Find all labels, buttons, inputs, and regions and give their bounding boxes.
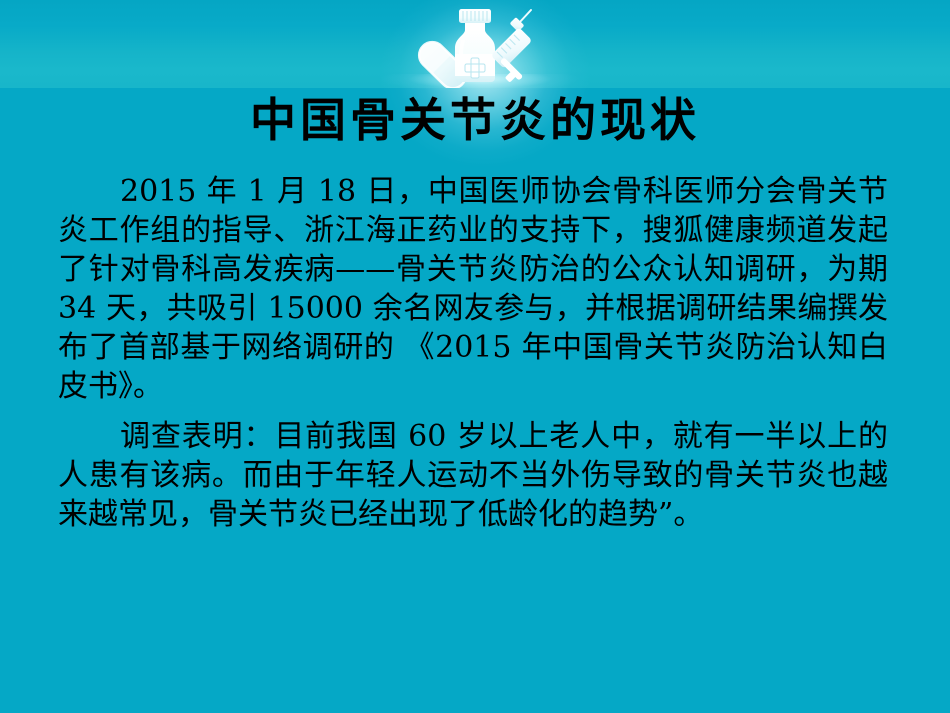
syringe-shape bbox=[491, 10, 533, 83]
medicine-icon bbox=[403, 4, 563, 88]
medicine-bottle-shape bbox=[455, 9, 495, 82]
paragraph-1: 2015 年 1 月 18 日，中国医师协会骨科医师分会骨关节炎工作组的指导、浙… bbox=[58, 172, 888, 406]
page-title: 中国骨关节炎的现状 bbox=[0, 92, 950, 148]
presentation-slide: 中国骨关节炎的现状 2015 年 1 月 18 日，中国医师协会骨科医师分会骨关… bbox=[0, 0, 950, 713]
paragraph-2: 调查表明：目前我国 60 岁以上老人中，就有一半以上的人患有该病。而由于年轻人运… bbox=[58, 417, 888, 534]
body-text: 2015 年 1 月 18 日，中国医师协会骨科医师分会骨关节炎工作组的指导、浙… bbox=[58, 172, 888, 534]
